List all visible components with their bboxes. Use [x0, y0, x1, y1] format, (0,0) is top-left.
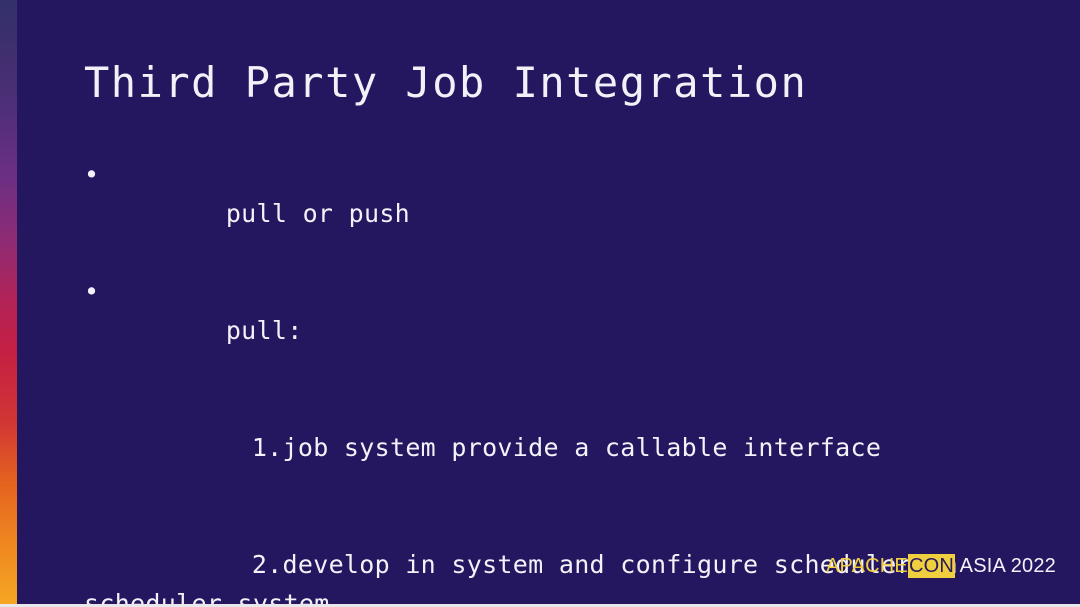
list-item-label: pull or push — [226, 199, 410, 228]
list-item: •pull: — [84, 272, 984, 389]
logo-asia-year-text: ASIA 2022 — [955, 555, 1056, 577]
presentation-slide: Third Party Job Integration •pull or pus… — [0, 0, 1080, 607]
slide-content-area: Third Party Job Integration •pull or pus… — [84, 0, 1040, 604]
apachecon-logo: APACHECON ASIA 2022 — [826, 554, 1056, 578]
list-item-label: pull: — [226, 316, 303, 345]
left-gradient-accent-bar — [0, 0, 17, 604]
list-item: 1.job system provide a callable interfac… — [84, 389, 984, 506]
slide-body-list: •pull or push •pull: 1.job system provid… — [84, 155, 984, 607]
bullet-dot-icon: • — [84, 155, 99, 194]
list-item-label: job system provide a callable interface — [283, 433, 882, 462]
page-title: Third Party Job Integration — [84, 57, 807, 109]
logo-apache-text: APACHE — [826, 555, 908, 577]
list-item: •pull or push — [84, 155, 984, 272]
bullet-dot-icon: • — [84, 272, 99, 311]
list-item-marker: 1. — [252, 433, 283, 462]
list-item-marker: 2. — [252, 550, 283, 579]
logo-con-highlight: CON — [908, 554, 955, 578]
